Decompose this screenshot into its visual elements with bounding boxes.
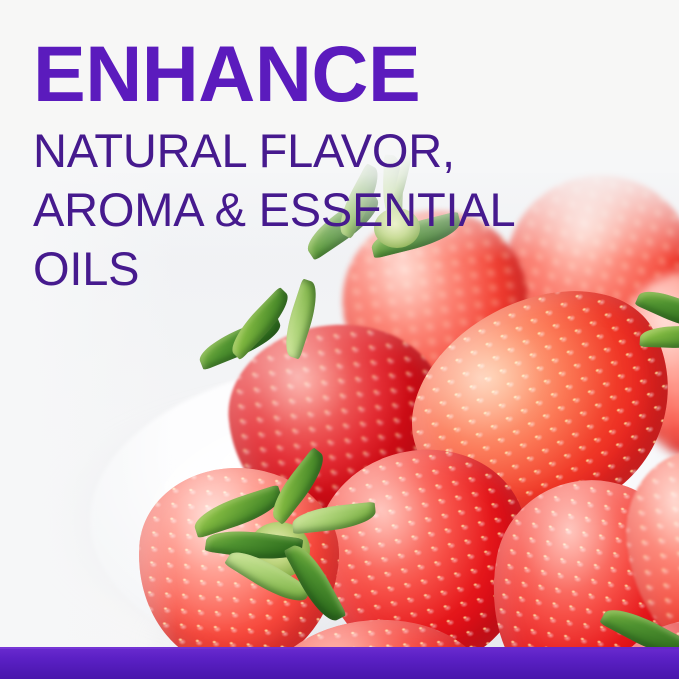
copy-block: ENHANCE NATURAL FLAVOR, AROMA & ESSENTIA…	[33, 38, 593, 298]
headline: ENHANCE	[33, 38, 593, 111]
subhead-line-2: AROMA & ESSENTIAL	[33, 180, 593, 239]
accent-bar-topline	[0, 647, 679, 649]
brand-accent-bar	[0, 647, 679, 679]
marketing-banner: ENHANCE NATURAL FLAVOR, AROMA & ESSENTIA…	[0, 0, 679, 679]
subhead-line-1: NATURAL FLAVOR,	[33, 121, 593, 180]
subhead: NATURAL FLAVOR, AROMA & ESSENTIAL OILS	[33, 121, 593, 299]
subhead-line-3: OILS	[33, 239, 593, 298]
